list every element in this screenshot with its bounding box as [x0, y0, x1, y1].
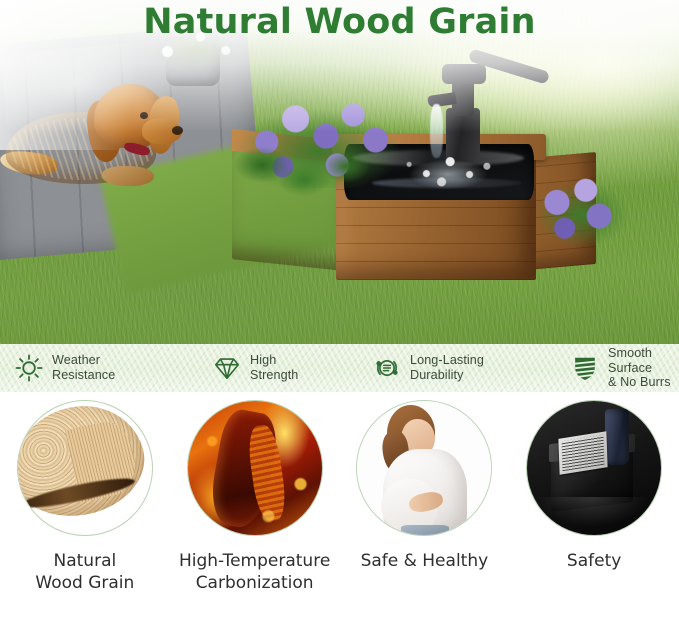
hydrangea-leaves-left — [232, 128, 382, 202]
pump-spec-label — [559, 431, 608, 474]
embers — [188, 401, 322, 535]
card-safety: Safety — [509, 400, 679, 572]
card-safe-and-healthy: Safe & Healthy — [340, 400, 510, 572]
dog-legs — [102, 166, 154, 186]
feature-bar: Weather Resistance High Strength — [0, 344, 679, 392]
card-caption: Safe & Healthy — [361, 550, 489, 572]
water-pump-thumbnail — [526, 400, 662, 536]
card-high-temperature-carbonization: High-Temperature Carbonization — [170, 400, 340, 594]
durability-cycle-icon — [372, 353, 402, 383]
feature-label: Weather Resistance — [52, 353, 115, 382]
page-title: Natural Wood Grain — [0, 2, 679, 42]
water-splash — [394, 146, 502, 192]
feature-label: Long-Lasting Durability — [410, 353, 484, 382]
feature-label: High Strength — [250, 353, 298, 382]
feature-long-lasting-durability: Long-Lasting Durability — [358, 353, 556, 383]
feature-weather-resistance: Weather Resistance — [0, 353, 198, 383]
carbonization-thumbnail — [187, 400, 323, 536]
woman-jeans — [401, 525, 449, 536]
feature-smooth-surface: Smooth Surface & No Burrs — [556, 346, 679, 390]
pregnant-woman-thumbnail — [356, 400, 492, 536]
surface-sheen — [537, 497, 647, 527]
hero-image — [0, 0, 679, 344]
wood-grain-thumbnail — [17, 400, 153, 536]
card-caption: Natural Wood Grain — [35, 550, 134, 594]
feature-high-strength: High Strength — [198, 353, 358, 383]
feature-cards: Natural Wood Grain High-Temperature Carb… — [0, 400, 679, 629]
pump-label-text-lines — [562, 435, 605, 471]
hydrangea-flowers-right — [532, 172, 628, 248]
diamond-icon — [212, 353, 242, 383]
feature-label: Smooth Surface & No Burrs — [608, 346, 679, 390]
card-caption: High-Temperature Carbonization — [179, 550, 330, 594]
shield-icon — [570, 353, 600, 383]
card-natural-wood-grain: Natural Wood Grain — [0, 400, 170, 594]
sun-icon — [14, 353, 44, 383]
card-caption: Safety — [567, 550, 621, 572]
